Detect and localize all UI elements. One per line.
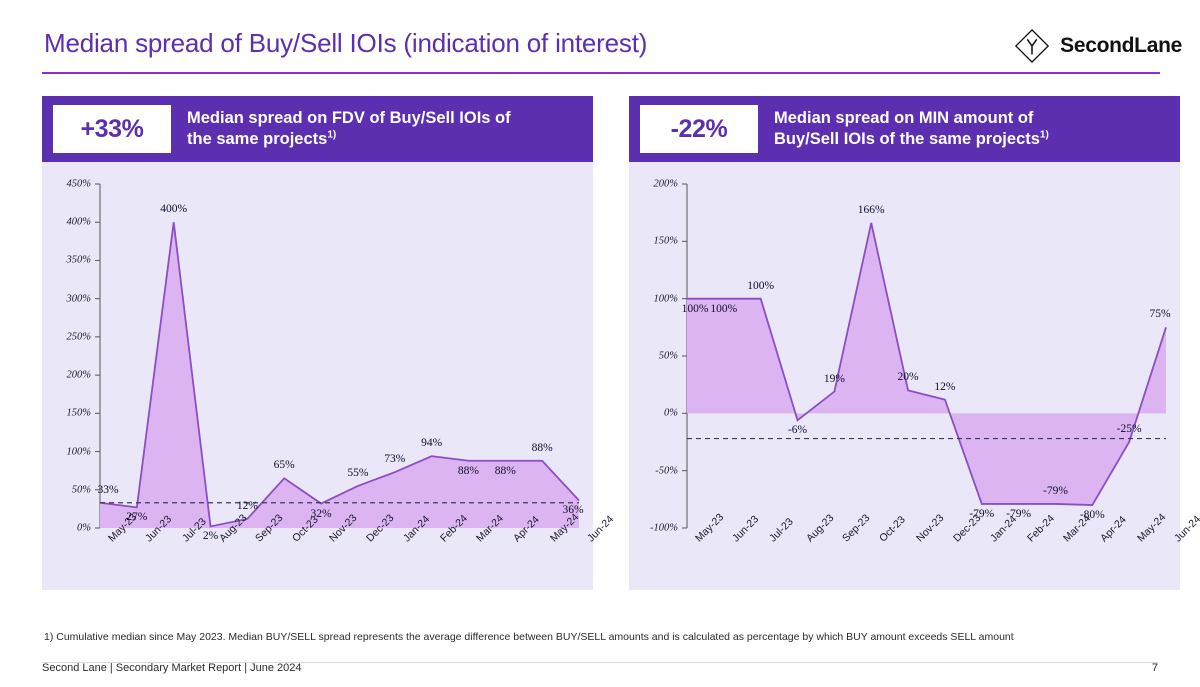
data-point-label: -80% [1080, 509, 1105, 521]
y-axis-label: 250% [42, 331, 91, 342]
y-axis-label: 100% [629, 293, 678, 304]
footer-source: Second Lane | Secondary Market Report | … [42, 662, 302, 674]
data-point-label: 75% [1149, 308, 1170, 320]
y-axis-label: 0% [629, 408, 678, 419]
page-title: Median spread of Buy/Sell IOIs (indicati… [44, 28, 647, 59]
panel-heading: Median spread on FDV of Buy/Sell IOIs of… [187, 108, 511, 150]
chart-min-amount-spread: -100%-50%0%50%100%150%200%May-23Jun-23Ju… [629, 162, 1180, 590]
data-point-label: 65% [274, 459, 295, 471]
data-point-label: 400% [160, 203, 187, 215]
y-axis-label: 350% [42, 255, 91, 266]
slide: Median spread of Buy/Sell IOIs (indicati… [0, 0, 1200, 687]
data-point-label: 166% [858, 204, 885, 216]
y-axis-label: 0% [42, 523, 91, 534]
data-point-label: 88% [458, 465, 479, 477]
brand-logo: SecondLane [1013, 27, 1182, 65]
data-point-label: 73% [384, 453, 405, 465]
panel-heading-footnote-ref: 1) [1040, 130, 1049, 141]
y-axis-label: -50% [629, 465, 678, 476]
y-axis-label: 200% [629, 179, 678, 190]
data-point-label: 2% [203, 530, 218, 542]
page-number: 7 [1152, 662, 1158, 674]
data-point-label: 88% [495, 465, 516, 477]
y-axis-label: 50% [42, 484, 91, 495]
data-point-label: 36% [562, 504, 583, 516]
data-point-label: 27% [126, 511, 147, 523]
data-point-label: 100% [747, 280, 774, 292]
y-axis-label: 150% [42, 408, 91, 419]
data-point-label: 12% [237, 500, 258, 512]
area-fill [100, 222, 579, 528]
area-fill [687, 223, 1166, 505]
y-axis-label: 50% [629, 351, 678, 362]
panel-heading-line1: Median spread on FDV of Buy/Sell IOIs of [187, 109, 511, 127]
diamond-y-icon [1013, 27, 1051, 65]
data-point-label: 100% [710, 303, 737, 315]
kpi-value: -22% [640, 105, 758, 153]
y-axis-label: -100% [629, 523, 678, 534]
title-divider [42, 72, 1160, 74]
panel-min-amount-spread: -22% Median spread on MIN amount of Buy/… [629, 96, 1180, 590]
panel-header: +33% Median spread on FDV of Buy/Sell IO… [42, 96, 593, 162]
y-axis-label: 300% [42, 293, 91, 304]
panel-fdv-spread: +33% Median spread on FDV of Buy/Sell IO… [42, 96, 593, 590]
data-point-label: -79% [1006, 508, 1031, 520]
data-point-label: 12% [934, 381, 955, 393]
data-point-label: -79% [1043, 485, 1068, 497]
data-point-label: -25% [1117, 423, 1142, 435]
data-point-label: 94% [421, 437, 442, 449]
data-point-label: -6% [788, 424, 807, 436]
data-point-label: 88% [532, 442, 553, 454]
y-axis-label: 450% [42, 179, 91, 190]
chart-fdv-spread: 0%50%100%150%200%250%300%350%400%450%May… [42, 162, 593, 590]
data-point-label: 20% [898, 371, 919, 383]
y-axis-label: 150% [629, 236, 678, 247]
data-point-label: 100% [682, 303, 709, 315]
panel-heading-line1: Median spread on MIN amount of [774, 109, 1033, 127]
data-point-label: 55% [347, 467, 368, 479]
data-point-label: 33% [97, 484, 118, 496]
data-point-label: -79% [969, 508, 994, 520]
panel-heading-line2: Buy/Sell IOIs of the same projects [774, 130, 1040, 148]
data-point-label: 19% [824, 373, 845, 385]
y-axis-label: 200% [42, 370, 91, 381]
panel-heading: Median spread on MIN amount of Buy/Sell … [774, 108, 1049, 150]
panel-heading-footnote-ref: 1) [327, 130, 336, 141]
kpi-value: +33% [53, 105, 171, 153]
footnote: 1) Cumulative median since May 2023. Med… [44, 631, 1014, 643]
y-axis-label: 100% [42, 446, 91, 457]
data-point-label: 32% [311, 508, 332, 520]
logo-text: SecondLane [1060, 34, 1182, 58]
panel-header: -22% Median spread on MIN amount of Buy/… [629, 96, 1180, 162]
y-axis-label: 400% [42, 217, 91, 228]
panel-heading-line2: the same projects [187, 130, 327, 148]
